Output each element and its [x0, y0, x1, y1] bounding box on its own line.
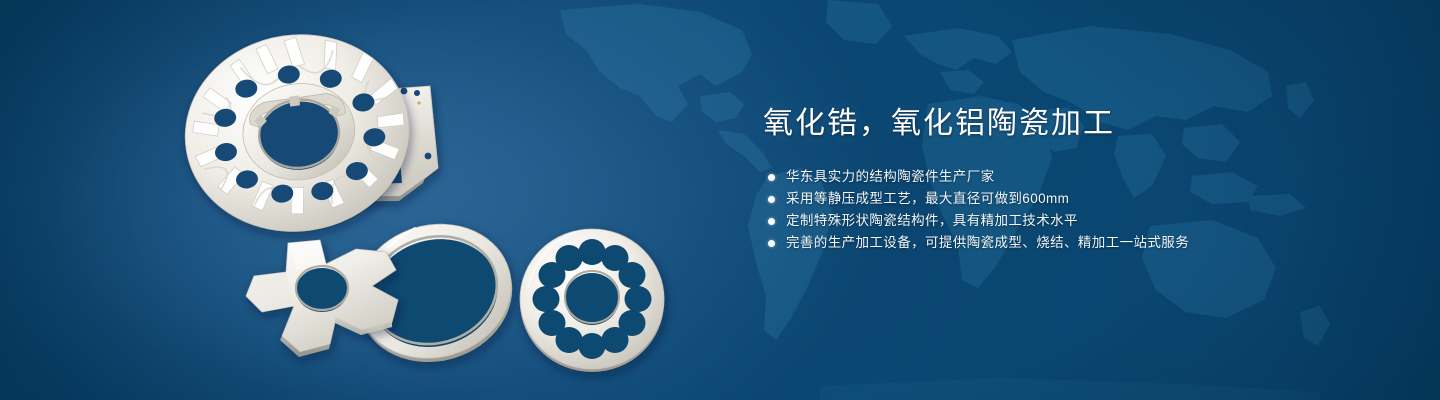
feature-list: 华东具实力的结构陶瓷件生产厂家 采用等静压成型工艺，最大直径可做到600mm 定…	[763, 166, 1383, 254]
hero-copy: 氧化锆，氧化铝陶瓷加工 华东具实力的结构陶瓷件生产厂家 采用等静压成型工艺，最大…	[763, 104, 1383, 254]
ceramic-perforated-disc	[520, 229, 664, 372]
bullet-dot-icon	[768, 218, 775, 225]
feature-text: 华东具实力的结构陶瓷件生产厂家	[786, 166, 995, 188]
list-item: 华东具实力的结构陶瓷件生产厂家	[763, 166, 1383, 188]
page-title: 氧化锆，氧化铝陶瓷加工	[763, 104, 1383, 144]
product-photo	[0, 0, 720, 400]
feature-text: 完善的生产加工设备，可提供陶瓷成型、烧结、精加工一站式服务	[786, 232, 1189, 254]
feature-text: 定制特殊形状陶瓷结构件，具有精加工技术水平	[786, 210, 1078, 232]
bullet-dot-icon	[768, 174, 775, 181]
bullet-dot-icon	[768, 240, 775, 247]
list-item: 采用等静压成型工艺，最大直径可做到600mm	[763, 188, 1383, 210]
feature-text: 采用等静压成型工艺，最大直径可做到600mm	[786, 188, 1069, 210]
list-item: 定制特殊形状陶瓷结构件，具有精加工技术水平	[763, 210, 1383, 232]
bullet-dot-icon	[768, 196, 775, 203]
hero-banner: 氧化锆，氧化铝陶瓷加工 华东具实力的结构陶瓷件生产厂家 采用等静压成型工艺，最大…	[0, 0, 1440, 400]
list-item: 完善的生产加工设备，可提供陶瓷成型、烧结、精加工一站式服务	[763, 232, 1383, 254]
